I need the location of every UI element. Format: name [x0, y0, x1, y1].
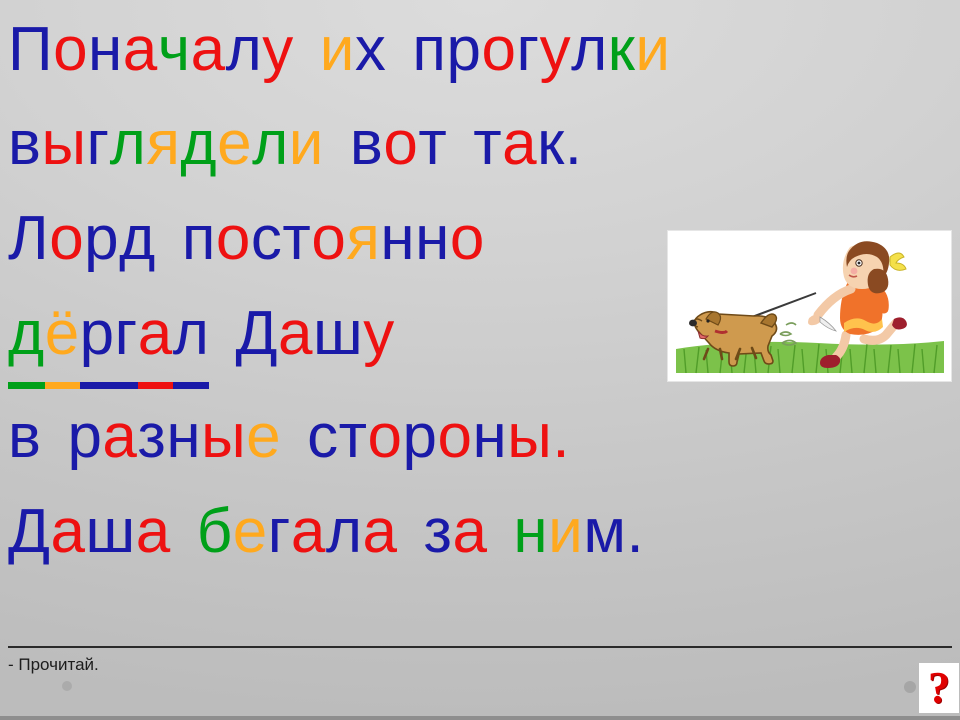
letter: а: [51, 484, 86, 579]
letter: к: [608, 4, 636, 96]
letter: ы: [41, 96, 86, 191]
word-бегала: бегала: [197, 484, 398, 579]
word-Поначалу: Поначалу: [8, 4, 294, 96]
letter: ы: [507, 389, 552, 484]
letter: л: [326, 484, 363, 579]
letter: р: [403, 389, 438, 484]
letter: о: [481, 4, 516, 96]
letter: о: [383, 96, 418, 191]
letter: в: [8, 389, 41, 484]
letter: .: [626, 484, 644, 579]
letter: п: [182, 191, 216, 286]
letter: т: [282, 191, 311, 286]
letter: л: [173, 286, 210, 389]
letter: о: [216, 191, 251, 286]
word-ним.: ним.: [513, 484, 644, 579]
letter: н: [380, 191, 415, 286]
letter: т: [339, 389, 368, 484]
letter: ё: [45, 286, 80, 389]
letter: у: [540, 4, 572, 96]
text-line-6: Дашабегалазаним.: [8, 484, 960, 579]
letter: .: [565, 96, 583, 191]
letter: П: [8, 4, 53, 96]
letter: д: [8, 286, 45, 389]
word-постоянно: постоянно: [182, 191, 485, 286]
letter: Л: [8, 191, 49, 286]
letter: с: [251, 191, 283, 286]
letter: л: [571, 4, 608, 96]
letter: а: [502, 96, 537, 191]
letter: б: [197, 484, 233, 579]
word-Лорд: Лорд: [8, 191, 156, 286]
letter: г: [516, 4, 539, 96]
word-за: за: [424, 484, 488, 579]
word-выглядели: выглядели: [8, 96, 324, 191]
letter: а: [363, 484, 398, 579]
letter: и: [320, 4, 355, 96]
letter: о: [49, 191, 84, 286]
word-так.: так.: [473, 96, 582, 191]
text-line-5: вразныестороны.: [8, 389, 960, 484]
letter: а: [136, 484, 171, 579]
footer-note: - Прочитай.: [8, 655, 99, 675]
word-дёргал: дёргал: [8, 286, 209, 389]
letter: ы: [201, 389, 246, 484]
letter: а: [138, 286, 173, 389]
word-вот: вот: [350, 96, 447, 191]
letter: н: [415, 191, 450, 286]
illustration-girl-running-with-dog: [667, 230, 952, 382]
letter: Д: [8, 484, 51, 579]
letter: п: [412, 4, 446, 96]
word-в: в: [8, 389, 41, 484]
letter: л: [252, 96, 289, 191]
letter: г: [268, 484, 291, 579]
letter: а: [452, 484, 487, 579]
illustration-svg: [668, 231, 951, 381]
letter: а: [278, 286, 313, 381]
letter: я: [146, 96, 180, 191]
letter: р: [84, 191, 119, 286]
letter: х: [355, 4, 387, 96]
letter: о: [368, 389, 403, 484]
letter: т: [473, 96, 502, 191]
letter: ч: [158, 4, 191, 96]
letter: я: [346, 191, 380, 286]
letter: г: [115, 286, 138, 389]
letter: г: [87, 96, 110, 191]
letter: у: [363, 286, 395, 381]
letter: р: [80, 286, 115, 389]
letter: д: [180, 96, 217, 191]
letter: о: [450, 191, 485, 286]
letter: а: [102, 389, 137, 484]
letter: м: [583, 484, 626, 579]
letter: т: [418, 96, 447, 191]
word-Даша: Даша: [8, 484, 171, 579]
word-стороны.: стороны.: [307, 389, 570, 484]
letter: н: [166, 389, 201, 484]
letter: з: [424, 484, 453, 579]
letter: о: [311, 191, 346, 286]
letter: Д: [235, 286, 278, 381]
letter: н: [88, 4, 123, 96]
help-button[interactable]: ?: [919, 663, 959, 713]
letter: л: [110, 96, 147, 191]
letter: р: [446, 4, 481, 96]
letter: д: [119, 191, 156, 286]
bullet-dot-left-icon: [62, 681, 72, 691]
letter: р: [67, 389, 102, 484]
letter: е: [233, 484, 268, 579]
text-line-2: выгляделивоттак.: [8, 96, 960, 191]
letter: л: [226, 4, 263, 96]
letter: у: [262, 4, 294, 96]
letter: .: [552, 389, 570, 484]
letter: и: [635, 4, 670, 96]
letter: н: [513, 484, 548, 579]
letter: к: [537, 96, 565, 191]
letter: ш: [85, 484, 135, 579]
letter: а: [191, 4, 226, 96]
word-их: их: [320, 4, 387, 96]
letter: а: [123, 4, 158, 96]
bullet-dot-right-icon: [904, 681, 916, 693]
letter: н: [473, 389, 508, 484]
letter: в: [350, 96, 383, 191]
letter: с: [307, 389, 339, 484]
text-line-1: Поначалуихпрогулки: [8, 4, 960, 96]
letter: о: [438, 389, 473, 484]
letter: е: [217, 96, 252, 191]
word-прогулки: прогулки: [412, 4, 670, 96]
slide: Поначалуихпрогулкивыгляделивоттак.Лордпо…: [0, 0, 960, 720]
footer-divider: [8, 646, 952, 648]
letter: ш: [313, 286, 363, 381]
letter: о: [53, 4, 88, 96]
letter: з: [137, 389, 166, 484]
letter: и: [289, 96, 324, 191]
letter: и: [548, 484, 583, 579]
letter: в: [8, 96, 41, 191]
question-mark-icon: ?: [928, 666, 950, 710]
letter: а: [291, 484, 326, 579]
word-Дашу: Дашу: [235, 286, 394, 381]
word-разные: разные: [67, 389, 281, 484]
letter: е: [246, 389, 281, 484]
